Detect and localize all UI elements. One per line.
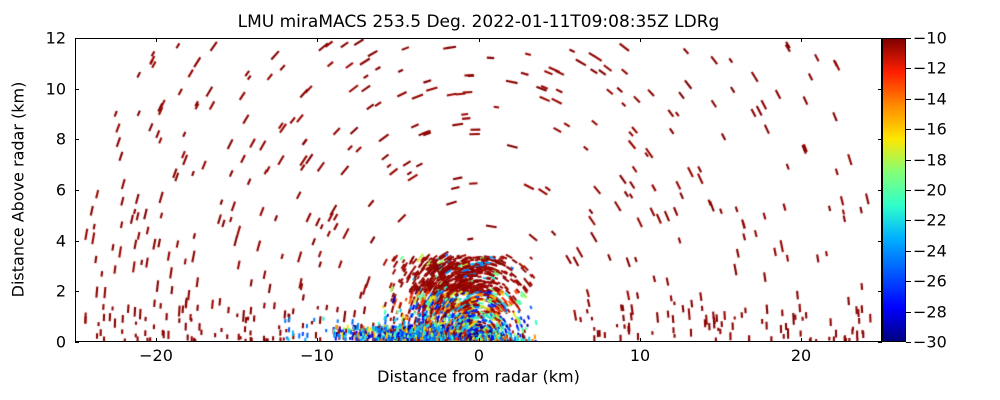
scatter-plot-canvas: [76, 39, 881, 341]
y-axis-tick-left: [75, 89, 79, 90]
colorbar-tick: [906, 190, 911, 191]
colorbar-tick-label: −26: [913, 272, 947, 291]
x-axis-tick-bottom: [156, 338, 157, 342]
y-axis-tick-label: 10: [46, 80, 66, 99]
y-axis-tick-left: [75, 38, 79, 39]
x-axis-tick-label: −20: [139, 346, 173, 365]
colorbar-tick: [906, 342, 911, 343]
colorbar-tick-label: −16: [913, 120, 947, 139]
radar-rhi-figure: LMU miraMACS 253.5 Deg. 2022-01-11T09:08…: [0, 0, 1000, 400]
y-axis-tick-left: [75, 342, 79, 343]
colorbar-tick: [906, 312, 911, 313]
x-axis-tick-label: 20: [791, 346, 811, 365]
y-axis-tick-label: 6: [56, 181, 66, 200]
x-axis-tick-bottom: [479, 338, 480, 342]
y-axis-tick-left: [75, 241, 79, 242]
colorbar-tick: [906, 38, 911, 39]
colorbar-tick-label: −12: [913, 59, 947, 78]
colorbar-tick: [906, 129, 911, 130]
colorbar-tick-label: −28: [913, 303, 947, 322]
y-axis-tick-left: [75, 291, 79, 292]
x-axis-tick-top: [156, 38, 157, 42]
colorbar-gradient: [883, 39, 905, 341]
colorbar-tick: [906, 99, 911, 100]
y-axis-tick-label: 4: [56, 232, 66, 251]
colorbar-tick-label: −22: [913, 211, 947, 230]
colorbar-tick: [906, 251, 911, 252]
page-title: LMU miraMACS 253.5 Deg. 2022-01-11T09:08…: [75, 12, 882, 32]
x-axis-label: Distance from radar (km): [75, 367, 882, 386]
colorbar-tick-label: −20: [913, 181, 947, 200]
colorbar-tick-label: −24: [913, 242, 947, 261]
colorbar: [882, 38, 906, 342]
x-axis-tick-label: −10: [300, 346, 334, 365]
colorbar-tick-label: −14: [913, 90, 947, 109]
x-axis-tick-bottom: [317, 338, 318, 342]
y-axis-tick-label: 0: [56, 333, 66, 352]
x-axis-tick-top: [801, 38, 802, 42]
colorbar-tick: [906, 68, 911, 69]
x-axis-tick-bottom: [640, 338, 641, 342]
x-axis-tick-label: 10: [630, 346, 650, 365]
y-axis-tick-left: [75, 139, 79, 140]
y-axis-tick-right: [878, 342, 882, 343]
colorbar-tick-label: −10: [913, 29, 947, 48]
x-axis-tick-top: [317, 38, 318, 42]
colorbar-tick: [906, 281, 911, 282]
x-axis-tick-top: [479, 38, 480, 42]
y-axis-tick-label: 12: [46, 29, 66, 48]
colorbar-tick: [906, 160, 911, 161]
colorbar-tick-label: −30: [913, 333, 947, 352]
y-axis-tick-label: 2: [56, 282, 66, 301]
y-axis-tick-left: [75, 190, 79, 191]
x-axis-tick-top: [640, 38, 641, 42]
x-axis-tick-label: 0: [474, 346, 484, 365]
y-axis-tick-label: 8: [56, 130, 66, 149]
colorbar-tick-label: −18: [913, 151, 947, 170]
x-axis-tick-bottom: [801, 338, 802, 342]
colorbar-tick: [906, 220, 911, 221]
y-axis-label: Distance Above radar (km): [9, 38, 28, 342]
